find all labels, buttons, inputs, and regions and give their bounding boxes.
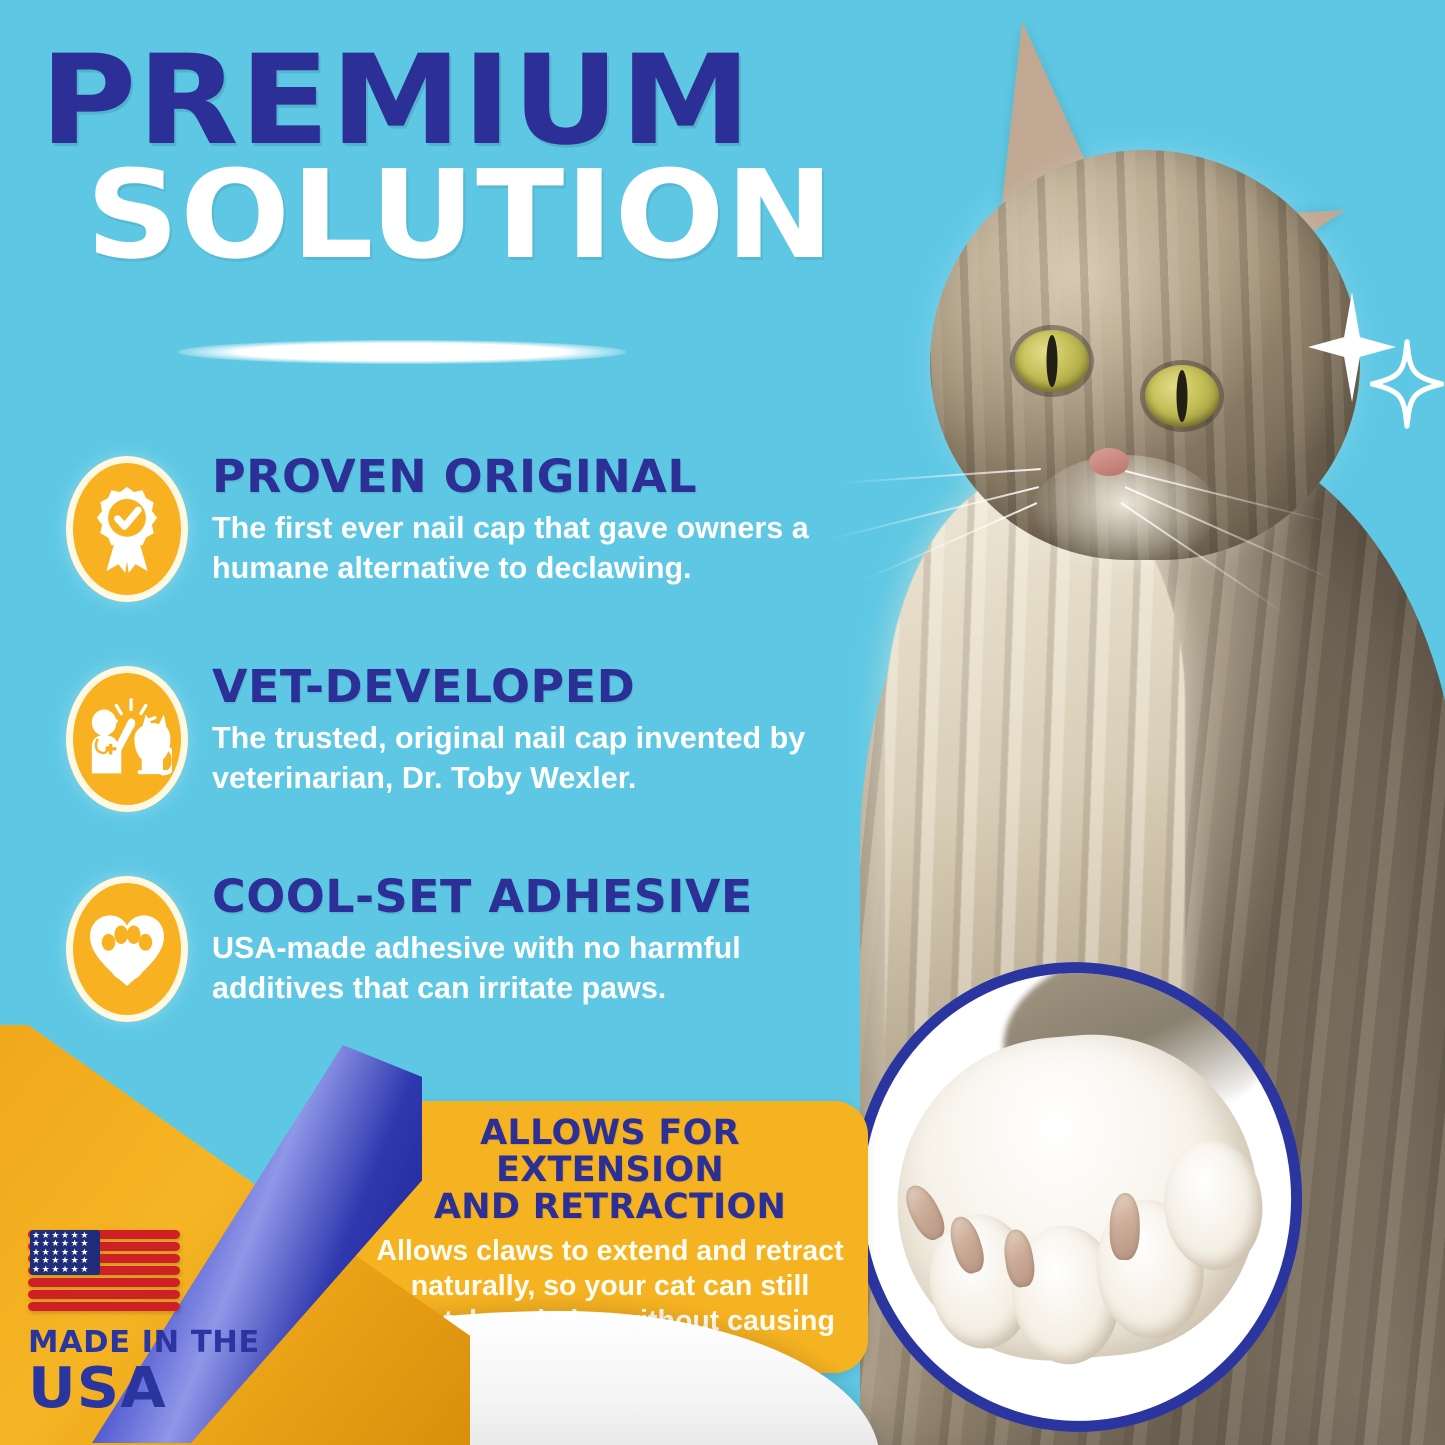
feature-description: The trusted, original nail cap invented … bbox=[212, 719, 848, 798]
feature-badge bbox=[58, 660, 196, 818]
sparkle-outline-icon bbox=[1370, 338, 1444, 430]
feature-text: PROVEN ORIGINAL The first ever nail cap … bbox=[212, 450, 848, 588]
feature-item: COOL-SET ADHESIVE USA-made adhesive with… bbox=[58, 870, 848, 1028]
feature-badge bbox=[58, 870, 196, 1028]
vet-high-five-cat-icon bbox=[66, 666, 188, 812]
headline-block: PREMIUM SOLUTION bbox=[40, 48, 830, 271]
cat-nose bbox=[1089, 448, 1129, 476]
feature-description: The first ever nail cap that gave owners… bbox=[212, 509, 848, 588]
headline-line-2: SOLUTION bbox=[86, 159, 875, 271]
feature-description: USA-made adhesive with no harmful additi… bbox=[212, 929, 848, 1008]
white-lens-divider bbox=[178, 340, 626, 364]
heart-paw-icon bbox=[66, 876, 188, 1022]
feature-item: PROVEN ORIGINAL The first ever nail cap … bbox=[58, 450, 848, 608]
feature-title: COOL-SET ADHESIVE bbox=[212, 874, 861, 919]
nail-cap bbox=[1109, 1193, 1140, 1261]
feature-list: PROVEN ORIGINAL The first ever nail cap … bbox=[58, 450, 848, 1080]
made-in-usa-line-1: MADE IN THE bbox=[28, 1328, 283, 1358]
product-feature-graphic: PREMIUM SOLUTION PROVEN ORIGI bbox=[0, 0, 1445, 1445]
feature-badge bbox=[58, 450, 196, 608]
feature-item: VET-DEVELOPED The trusted, original nail… bbox=[58, 660, 848, 818]
feature-text: VET-DEVELOPED The trusted, original nail… bbox=[212, 660, 848, 798]
usa-flag-icon: ★★★★★★★★★★★★★★★★★★★★★★★★★★★★★★ bbox=[28, 1230, 180, 1314]
made-in-usa-badge: ★★★★★★★★★★★★★★★★★★★★★★★★★★★★★★ MADE IN T… bbox=[28, 1230, 278, 1417]
cat-eye-left bbox=[1015, 330, 1089, 392]
page-peel-corner: ★★★★★★★★★★★★★★★★★★★★★★★★★★★★★★ MADE IN T… bbox=[0, 1025, 470, 1445]
feature-title: VET-DEVELOPED bbox=[212, 664, 861, 709]
cat-eye-right bbox=[1145, 365, 1219, 427]
made-in-usa-line-2: USA bbox=[28, 1360, 291, 1417]
headline-line-1: PREMIUM bbox=[40, 48, 877, 155]
feature-title: PROVEN ORIGINAL bbox=[212, 454, 861, 499]
feature-text: COOL-SET ADHESIVE USA-made adhesive with… bbox=[212, 870, 848, 1008]
award-ribbon-icon bbox=[66, 456, 188, 602]
